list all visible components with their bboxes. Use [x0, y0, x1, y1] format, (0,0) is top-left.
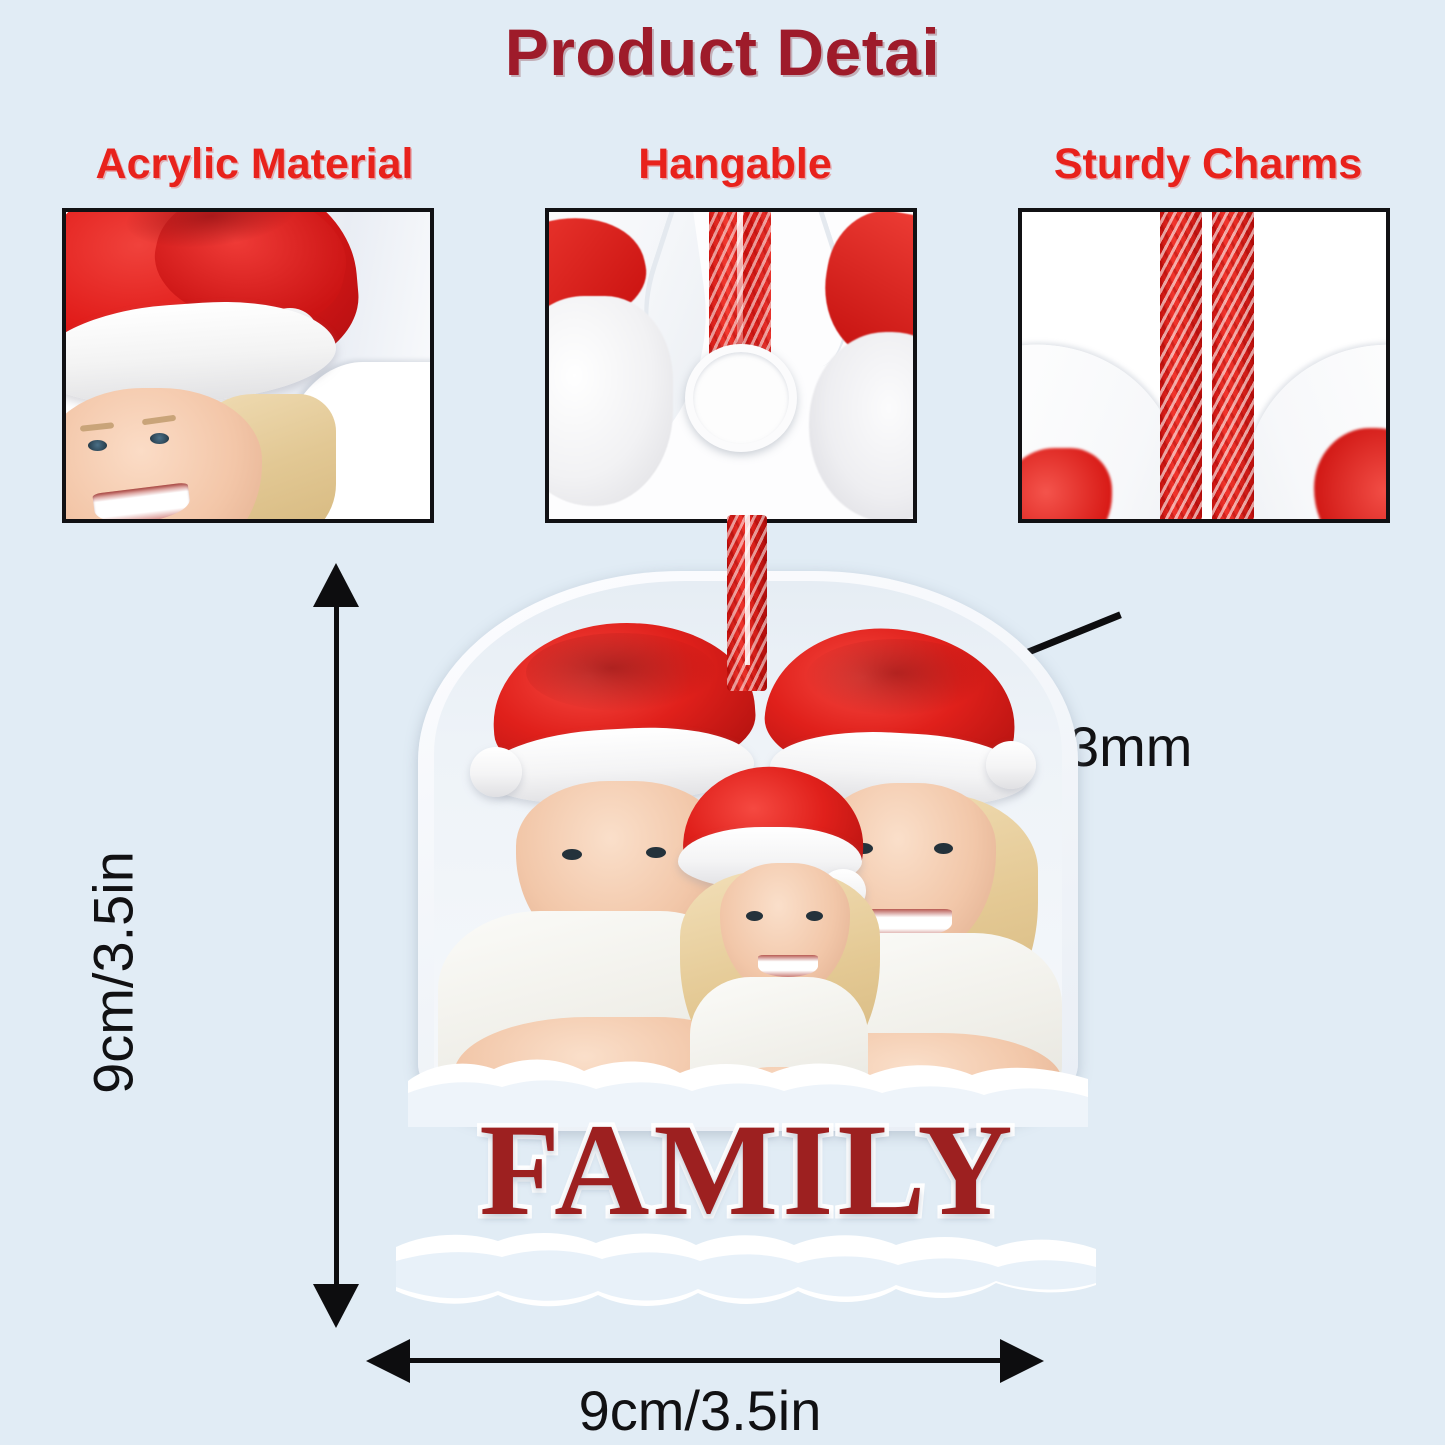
feature-photo-acrylic-material — [62, 208, 434, 523]
sturdy-charms-photo-content — [1022, 212, 1386, 519]
product-ornament: FAMILY — [418, 515, 1078, 1345]
hanging-hole — [685, 344, 797, 452]
product-detail-image: Product Detai Acrylic Material Hangable … — [0, 0, 1445, 1445]
width-dimension-line — [392, 1358, 1022, 1363]
father-hat-pompom — [470, 747, 522, 797]
hangable-photo-content — [549, 212, 913, 519]
acrylic-material-photo-content — [66, 212, 430, 519]
page-title: Product Detai — [0, 14, 1445, 90]
height-dimension-arrow-bottom — [313, 1284, 359, 1328]
father-santa-hat-fold — [526, 633, 716, 711]
feature-label-hangable: Hangable — [545, 140, 925, 189]
hanging-cord-split — [737, 212, 743, 362]
mother-santa-hat-fold — [806, 639, 986, 715]
charm-cord-strand-left — [1160, 212, 1202, 519]
mother-eye-right — [934, 843, 953, 854]
height-dimension-label: 9cm/3.5in — [81, 798, 146, 1148]
thickness-label: 3mm — [1068, 714, 1192, 779]
santa-hat-blur-left — [1022, 448, 1112, 519]
feature-photo-hangable — [545, 208, 917, 523]
charm-cord-strand-right — [1212, 212, 1254, 519]
feature-label-sturdy-charms: Sturdy Charms — [1018, 140, 1398, 189]
father-eye-right — [646, 847, 666, 858]
child-eye-left — [746, 911, 763, 921]
family-word: FAMILY — [418, 1093, 1078, 1246]
feature-label-acrylic-material: Acrylic Material — [62, 140, 447, 189]
feature-photo-sturdy-charms — [1018, 208, 1390, 523]
woman-eye-left — [88, 440, 107, 451]
height-dimension-line — [334, 592, 339, 1292]
width-dimension-arrow-right — [1000, 1339, 1044, 1383]
width-dimension-label: 9cm/3.5in — [370, 1378, 1030, 1443]
father-eye-left — [562, 849, 582, 860]
child-smile — [758, 955, 818, 977]
child-eye-right — [806, 911, 823, 921]
woman-eye-right — [150, 433, 169, 444]
mother-hat-pompom — [986, 741, 1036, 789]
ornament-hanging-cord-split — [745, 515, 750, 665]
